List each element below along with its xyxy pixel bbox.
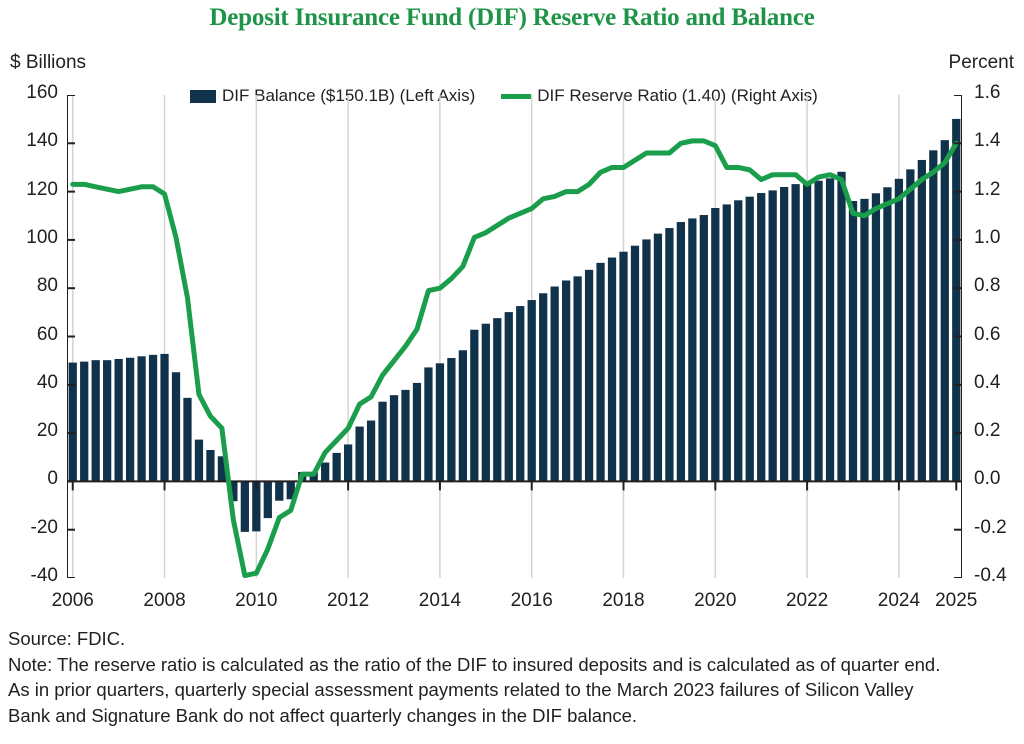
bar bbox=[275, 481, 283, 500]
bar bbox=[482, 324, 490, 482]
x-tick-label: 2020 bbox=[675, 590, 755, 612]
bar bbox=[700, 215, 708, 481]
bar bbox=[137, 356, 145, 481]
bar bbox=[424, 367, 432, 481]
footnote-note-line3: Bank and Signature Bank do not affect qu… bbox=[8, 703, 1020, 729]
bar bbox=[367, 421, 375, 482]
bar bbox=[757, 193, 765, 481]
bar bbox=[493, 318, 501, 481]
bar bbox=[447, 358, 455, 481]
bar bbox=[585, 270, 593, 482]
y-tick-label-left: 120 bbox=[8, 179, 58, 201]
bar bbox=[413, 383, 421, 482]
bar bbox=[596, 263, 604, 482]
bar bbox=[746, 197, 754, 482]
bar-series bbox=[69, 119, 961, 532]
y-tick-label-left: -40 bbox=[8, 565, 58, 587]
footnote-note-line2: As in prior quarters, quarterly special … bbox=[8, 677, 1020, 703]
y-tick-label-left: 40 bbox=[8, 372, 58, 394]
y-tick-label-right: 1.6 bbox=[974, 82, 1024, 104]
bar bbox=[814, 181, 822, 482]
bar bbox=[872, 193, 880, 481]
bar bbox=[115, 359, 123, 481]
bar bbox=[826, 178, 834, 481]
bar bbox=[92, 360, 100, 481]
bar bbox=[333, 453, 341, 482]
bar bbox=[459, 350, 467, 481]
bar bbox=[711, 208, 719, 481]
y-tick-label-left: 160 bbox=[8, 82, 58, 104]
bar bbox=[149, 355, 157, 482]
bar bbox=[195, 440, 203, 482]
x-tick-label: 2012 bbox=[308, 590, 388, 612]
footnote-source: Source: FDIC. bbox=[8, 626, 1020, 652]
bar bbox=[573, 276, 581, 481]
bar bbox=[941, 140, 949, 481]
x-tick-label: 2022 bbox=[767, 590, 847, 612]
bar bbox=[80, 362, 88, 482]
bar bbox=[390, 395, 398, 481]
bar bbox=[734, 200, 742, 481]
bar bbox=[918, 160, 926, 481]
bar bbox=[241, 481, 249, 531]
bar bbox=[642, 239, 650, 481]
bar bbox=[206, 450, 214, 481]
right-axis-title: Percent bbox=[949, 52, 1014, 74]
bar bbox=[551, 287, 559, 482]
bar bbox=[160, 354, 168, 482]
bar bbox=[665, 228, 673, 481]
bar bbox=[172, 372, 180, 481]
y-tick-label-right: 0.2 bbox=[974, 420, 1024, 442]
y-tick-label-right: 0.6 bbox=[974, 324, 1024, 346]
footnotes: Source: FDIC. Note: The reserve ratio is… bbox=[8, 626, 1020, 728]
bar bbox=[321, 463, 329, 482]
y-tick-label-right: 0.0 bbox=[974, 468, 1024, 490]
x-tick-label: 2018 bbox=[584, 590, 664, 612]
bar bbox=[837, 172, 845, 482]
bar bbox=[849, 201, 857, 481]
bar bbox=[470, 330, 478, 482]
bar bbox=[654, 234, 662, 482]
bar bbox=[69, 363, 77, 482]
bar bbox=[401, 390, 409, 482]
line-series bbox=[73, 141, 957, 576]
bar bbox=[780, 187, 788, 481]
left-axis-title: $ Billions bbox=[10, 52, 86, 74]
y-tick-label-right: 1.2 bbox=[974, 179, 1024, 201]
y-tick-label-left: 20 bbox=[8, 420, 58, 442]
bar bbox=[688, 218, 696, 481]
bar bbox=[860, 199, 868, 482]
bar bbox=[769, 190, 777, 481]
bar bbox=[355, 427, 363, 482]
bar bbox=[791, 184, 799, 481]
x-tick-label: 2008 bbox=[125, 590, 205, 612]
y-tick-label-right: 1.0 bbox=[974, 227, 1024, 249]
y-tick-label-left: 140 bbox=[8, 130, 58, 152]
y-tick-label-left: -20 bbox=[8, 517, 58, 539]
bar bbox=[436, 363, 444, 481]
x-tick-label: 2014 bbox=[400, 590, 480, 612]
y-tick-label-right: 0.8 bbox=[974, 275, 1024, 297]
bar bbox=[677, 222, 685, 481]
bar bbox=[539, 293, 547, 481]
y-tick-label-right: -0.4 bbox=[974, 565, 1024, 587]
bar bbox=[505, 312, 513, 481]
footnote-note-line1: Note: The reserve ratio is calculated as… bbox=[8, 652, 1020, 678]
chart-plot-area bbox=[67, 95, 962, 578]
y-tick-label-right: -0.2 bbox=[974, 517, 1024, 539]
bar bbox=[723, 204, 731, 481]
bar bbox=[803, 184, 811, 481]
bar bbox=[631, 246, 639, 482]
bar bbox=[516, 306, 524, 481]
bar bbox=[883, 187, 891, 481]
bar bbox=[103, 360, 111, 481]
bar bbox=[608, 258, 616, 482]
y-tick-label-right: 1.4 bbox=[974, 130, 1024, 152]
bar bbox=[562, 280, 570, 481]
bar bbox=[344, 444, 352, 481]
bar bbox=[895, 179, 903, 482]
bar bbox=[264, 481, 272, 518]
x-tick-label: 2006 bbox=[33, 590, 113, 612]
bar bbox=[906, 169, 914, 481]
y-tick-label-left: 100 bbox=[8, 227, 58, 249]
page-title: Deposit Insurance Fund (DIF) Reserve Rat… bbox=[0, 4, 1024, 32]
y-tick-label-right: 0.4 bbox=[974, 372, 1024, 394]
bar bbox=[183, 398, 191, 482]
y-tick-label-left: 0 bbox=[8, 468, 58, 490]
bar bbox=[528, 300, 536, 481]
y-tick-label-left: 60 bbox=[8, 324, 58, 346]
x-tick-label: 2016 bbox=[492, 590, 572, 612]
chart-svg bbox=[67, 95, 962, 578]
bar bbox=[378, 402, 386, 482]
bar bbox=[952, 119, 960, 481]
bar bbox=[126, 358, 134, 482]
bar bbox=[619, 252, 627, 482]
y-tick-label-left: 80 bbox=[8, 275, 58, 297]
x-tick-label: 2010 bbox=[216, 590, 296, 612]
x-tick-label: 2025 bbox=[916, 590, 996, 612]
bar bbox=[929, 150, 937, 481]
